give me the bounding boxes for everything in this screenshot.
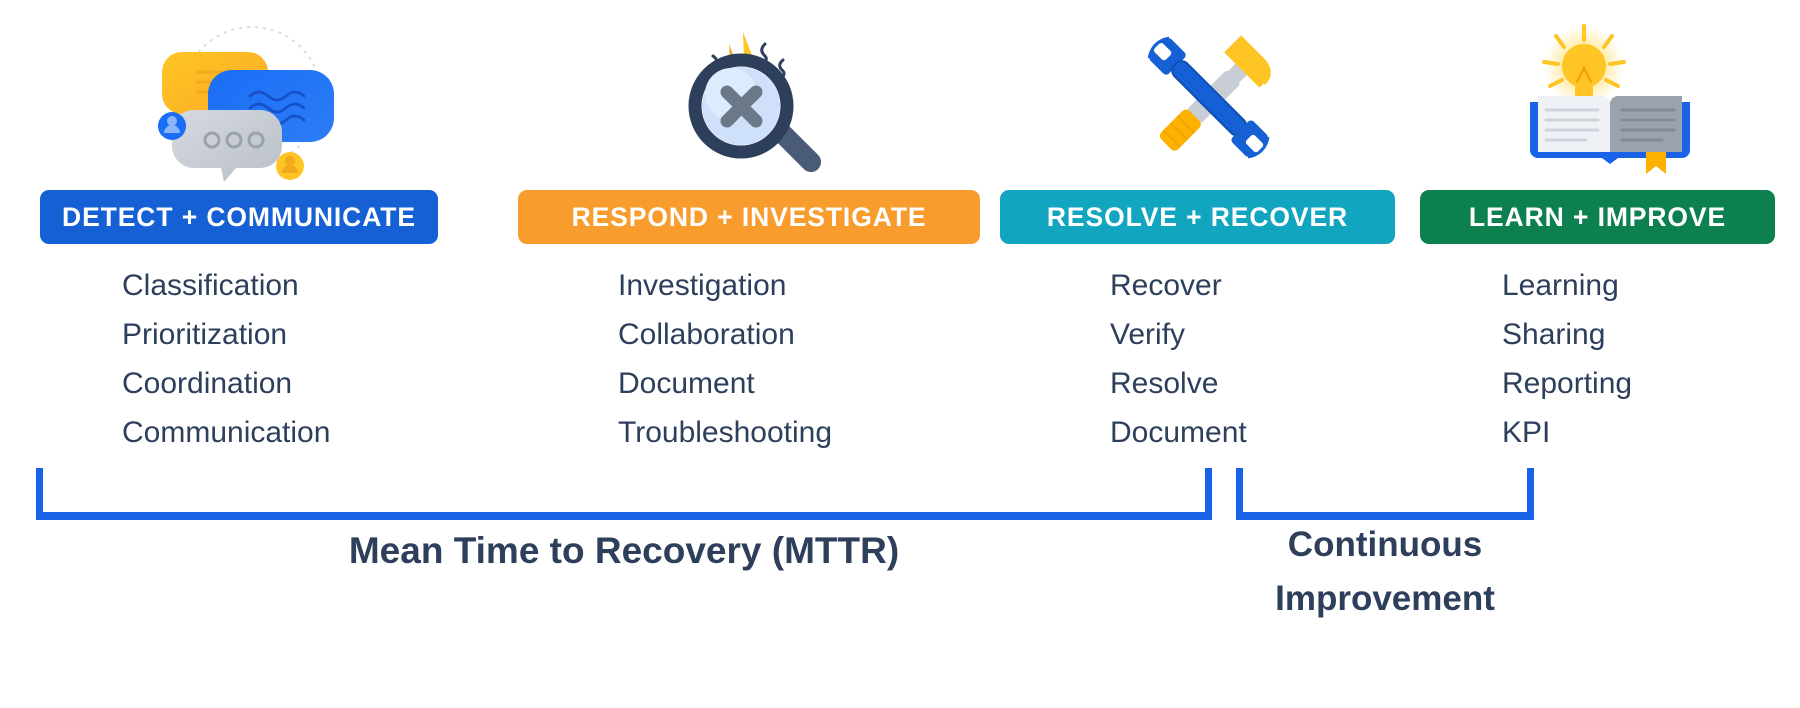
phase-column-learn: LEARN + IMPROVE Learning Sharing Reporti… (1420, 0, 1800, 470)
list-item: Recover (1110, 261, 1420, 310)
phase-column-resolve: RESOLVE + RECOVER Recover Verify Resolve… (1000, 0, 1420, 470)
phase-banner-resolve[interactable]: RESOLVE + RECOVER (1000, 190, 1395, 244)
list-item: Reporting (1502, 359, 1800, 408)
phase-columns: DETECT + COMMUNICATE Classification Prio… (0, 0, 1800, 470)
hammer-wrench-icon (1000, 0, 1420, 190)
phase-banner-learn[interactable]: LEARN + IMPROVE (1420, 190, 1775, 244)
list-item: Communication (122, 408, 500, 457)
phase-items-detect: Classification Prioritization Coordinati… (0, 244, 500, 457)
caption-mttr: Mean Time to Recovery (MTTR) (36, 524, 1212, 578)
list-item: Document (1110, 408, 1420, 457)
phase-column-detect: DETECT + COMMUNICATE Classification Prio… (0, 0, 500, 470)
phase-column-respond: RESPOND + INVESTIGATE Investigation Coll… (500, 0, 1000, 470)
phase-items-respond: Investigation Collaboration Document Tro… (500, 244, 1000, 457)
phase-banner-detect[interactable]: DETECT + COMMUNICATE (40, 190, 438, 244)
list-item: Classification (122, 261, 500, 310)
speech-bubbles-icon (0, 0, 500, 190)
list-item: Document (618, 359, 1000, 408)
list-item: Verify (1110, 310, 1420, 359)
list-item: Investigation (618, 261, 1000, 310)
phase-items-resolve: Recover Verify Resolve Document (1000, 244, 1420, 457)
list-item: KPI (1502, 408, 1800, 457)
list-item: Collaboration (618, 310, 1000, 359)
list-item: Sharing (1502, 310, 1800, 359)
bracket-continuous-improvement (1236, 468, 1534, 520)
caption-ci-line1: Continuous (1206, 518, 1564, 572)
phase-banner-respond[interactable]: RESPOND + INVESTIGATE (518, 190, 980, 244)
list-item: Prioritization (122, 310, 500, 359)
phase-items-learn: Learning Sharing Reporting KPI (1420, 244, 1800, 457)
list-item: Coordination (122, 359, 500, 408)
bracket-mttr (36, 468, 1212, 520)
incident-lifecycle-diagram: DETECT + COMMUNICATE Classification Prio… (0, 0, 1800, 708)
book-lightbulb-icon (1420, 0, 1800, 190)
list-item: Resolve (1110, 359, 1420, 408)
list-item: Troubleshooting (618, 408, 1000, 457)
magnifier-error-icon (500, 0, 1000, 190)
caption-ci-line2: Improvement (1206, 572, 1564, 626)
caption-continuous-improvement: Continuous Improvement (1206, 518, 1564, 626)
list-item: Learning (1502, 261, 1800, 310)
